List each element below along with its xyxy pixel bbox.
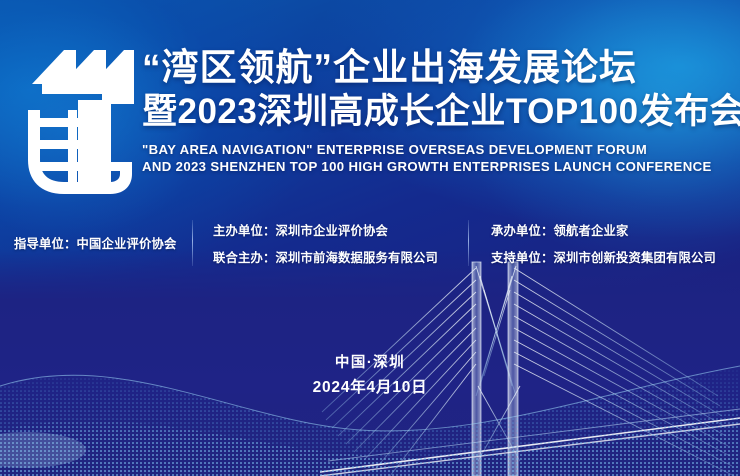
venue-block: 中国·深圳 2024年4月10日 — [0, 352, 740, 400]
title-block: “湾区领航”企业出海发展论坛 暨2023深圳高成长企业TOP100发布会 "BA… — [142, 44, 740, 175]
venue-date: 2024年4月10日 — [0, 376, 740, 400]
organizer-line: 承办单位：领航者企业家 — [491, 221, 727, 239]
organizer-line: 指导单位：中国企业评价协会 — [14, 234, 192, 252]
title-english-line-2: AND 2023 SHENZHEN TOP 100 HIGH GROWTH EN… — [142, 158, 740, 175]
venue-city: 中国·深圳 — [0, 352, 740, 374]
organizer-column-support: 承办单位：领航者企业家 支持单位：深圳市创新投资集团有限公司 — [469, 221, 727, 266]
title-english-line-1: "BAY AREA NAVIGATION" ENTERPRISE OVERSEA… — [142, 141, 740, 158]
organizer-column-host: 主办单位：深圳市企业评价协会 联合主办：深圳市前海数据服务有限公司 — [193, 221, 468, 266]
dotted-wave-mesh — [0, 326, 740, 476]
organizer-line: 联合主办：深圳市前海数据服务有限公司 — [213, 248, 468, 266]
organizer-line: 支持单位：深圳市创新投资集团有限公司 — [491, 248, 727, 266]
poster-header: “湾区领航”企业出海发展论坛 暨2023深圳高成长企业TOP100发布会 "BA… — [0, 44, 740, 194]
organizers-row: 指导单位：中国企业评价协会 主办单位：深圳市企业评价协会 联合主办：深圳市前海数… — [0, 220, 740, 266]
title-chinese-line-1: “湾区领航”企业出海发展论坛 — [142, 46, 740, 90]
title-chinese-line-2: 暨2023深圳高成长企业TOP100发布会 — [142, 90, 740, 133]
event-poster: “湾区领航”企业出海发展论坛 暨2023深圳高成长企业TOP100发布会 "BA… — [0, 0, 740, 476]
organizer-line: 主办单位：深圳市企业评价协会 — [213, 221, 468, 239]
organizer-column-guidance: 指导单位：中国企业评价协会 — [0, 234, 192, 252]
bay-area-navigation-sail-logo — [18, 48, 136, 196]
